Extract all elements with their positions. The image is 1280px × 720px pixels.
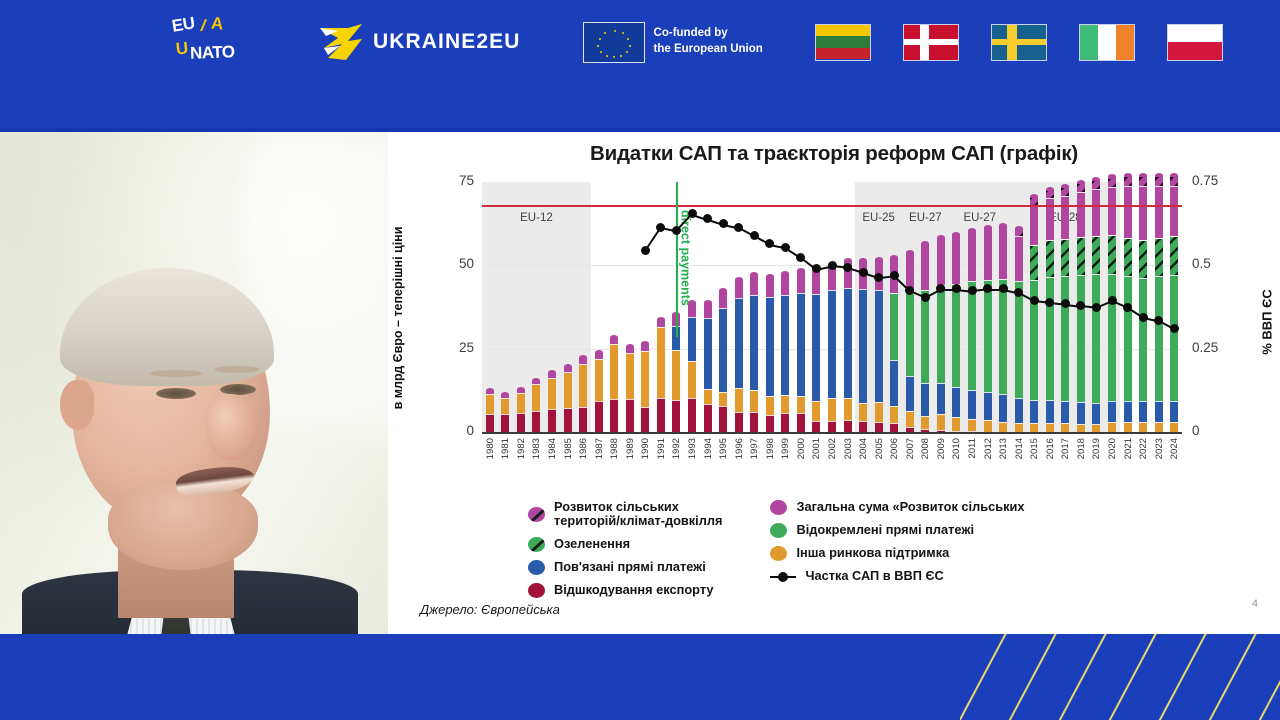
bar-segment <box>952 417 960 430</box>
bar-cap <box>579 355 587 359</box>
bar-cap <box>984 225 992 229</box>
x-tick-label: 1991 <box>656 438 667 459</box>
bar-column <box>626 347 634 432</box>
line-data-point <box>1061 299 1070 308</box>
line-data-point <box>734 223 743 232</box>
bar-segment <box>641 407 649 432</box>
bar-segment <box>610 344 618 398</box>
bar-segment <box>999 394 1007 421</box>
line-data-point <box>781 243 790 252</box>
legend-label: Розвиток сільських територій/клімат-довк… <box>554 500 722 529</box>
reference-line <box>482 205 1182 206</box>
line-data-point <box>688 209 697 218</box>
bar-segment <box>875 402 883 422</box>
bar-column <box>781 275 789 432</box>
bar-segment <box>968 390 976 419</box>
bar-column <box>875 260 883 432</box>
bar-segment <box>875 422 883 432</box>
bar-cap <box>890 255 898 259</box>
cofunded-line-2: the European Union <box>654 42 763 58</box>
bar-segment <box>1092 180 1100 189</box>
bar-segment <box>1077 275 1085 402</box>
bar-segment <box>1139 422 1147 432</box>
window-glare <box>250 132 388 432</box>
bar-segment <box>999 279 1007 394</box>
y-tick-right: 0.5 <box>1192 256 1211 271</box>
bar-segment <box>1030 400 1038 423</box>
period-band-label: EU-27 <box>963 212 996 224</box>
x-tick-label: 1992 <box>671 438 682 459</box>
bar-segment <box>797 396 805 413</box>
x-tick-label: 2015 <box>1029 438 1040 459</box>
bar-segment <box>1170 236 1178 274</box>
bar-segment <box>657 320 665 327</box>
x-tick-label: 2008 <box>920 438 931 459</box>
bar-segment <box>844 398 852 419</box>
bar-segment <box>1061 401 1069 423</box>
y-tick-left: 0 <box>466 423 474 438</box>
bar-segment <box>984 392 992 420</box>
bar-segment <box>1108 274 1116 401</box>
bar-segment <box>781 275 789 296</box>
bar-segment <box>984 228 992 280</box>
bar-segment <box>1046 423 1054 432</box>
bar-segment <box>735 298 743 388</box>
bar-column <box>844 262 852 432</box>
x-tick-label: 1999 <box>780 438 791 459</box>
bar-segment <box>921 290 929 383</box>
axis-baseline <box>482 432 1182 434</box>
bar-cap <box>859 258 867 262</box>
period-band-label: EU-27 <box>909 212 942 224</box>
logo-u: U <box>175 38 189 59</box>
bar-segment <box>1170 422 1178 432</box>
speaker-brow-right <box>214 366 260 373</box>
legend-column-right: Загальна сума «Розвиток сільськихВідокре… <box>770 500 1024 598</box>
x-tick-label: 1987 <box>594 438 605 459</box>
x-tick-label: 1989 <box>625 438 636 459</box>
bar-segment <box>1077 424 1085 432</box>
cofunded-badge: Co-funded by the European Union <box>583 22 763 63</box>
bar-column <box>486 392 494 432</box>
x-tick-label: 2002 <box>827 438 838 459</box>
bar-segment <box>766 415 774 432</box>
bar-column <box>1155 176 1163 432</box>
bar-segment <box>532 384 540 411</box>
bar-segment <box>719 392 727 406</box>
bar-cap <box>921 241 929 245</box>
bar-segment <box>548 378 556 410</box>
bar-segment <box>781 295 789 395</box>
bar-segment <box>1015 281 1023 398</box>
legend-item[interactable]: Відшкодування експорту <box>528 583 722 598</box>
legend-label: Частка САП в ВВП ЄС <box>805 569 943 583</box>
bar-segment <box>1124 238 1132 276</box>
bar-segment <box>1124 422 1132 432</box>
bar-segment <box>1139 186 1147 239</box>
speaker-brow-left <box>150 370 202 377</box>
bar-segment <box>999 422 1007 432</box>
bar-column <box>1170 176 1178 432</box>
bar-segment <box>1015 423 1023 432</box>
legend-swatch <box>770 500 787 515</box>
x-tick-label: 1990 <box>640 438 651 459</box>
bar-segment <box>1030 245 1038 280</box>
legend-item[interactable]: Загальна сума «Розвиток сільських <box>770 500 1024 515</box>
bar-segment <box>1139 401 1147 422</box>
legend-item[interactable]: Відокремлені прямі платежі <box>770 523 1024 538</box>
bar-segment <box>844 288 852 398</box>
bar-column <box>797 271 805 432</box>
bar-segment <box>906 411 914 426</box>
x-tick-label: 1988 <box>609 438 620 459</box>
bar-cap <box>1046 187 1054 191</box>
x-tick-label: 1983 <box>531 438 542 459</box>
bar-segment <box>766 396 774 416</box>
bar-segment <box>1077 402 1085 424</box>
bar-column <box>657 320 665 432</box>
bar-cap <box>517 387 525 391</box>
bar-segment <box>486 414 494 432</box>
bar-cap <box>595 350 603 354</box>
bar-column <box>952 236 960 432</box>
slide-panel: Видатки САП та траєкторія реформ САП (гр… <box>388 132 1280 634</box>
bar-segment <box>781 413 789 432</box>
bar-segment <box>1108 187 1116 235</box>
x-tick-label: 2009 <box>936 438 947 459</box>
x-tick-label: 2003 <box>843 438 854 459</box>
legend-item[interactable]: Озеленення <box>528 537 722 552</box>
bar-segment <box>1077 183 1085 192</box>
x-tick-label: 1998 <box>765 438 776 459</box>
bar-segment <box>1124 276 1132 401</box>
x-tick-label: 1982 <box>516 438 527 459</box>
bar-segment <box>641 344 649 350</box>
bar-segment <box>1046 277 1054 400</box>
bar-column <box>828 265 836 432</box>
bar-segment <box>1077 237 1085 275</box>
bar-cap <box>704 300 712 304</box>
bar-column <box>999 226 1007 432</box>
bar-column <box>812 271 820 432</box>
speaker-video-feed[interactable] <box>0 132 388 634</box>
bar-column <box>766 277 774 432</box>
bar-column <box>564 368 572 432</box>
y-tick-right: 0 <box>1192 423 1200 438</box>
bar-segment <box>812 271 820 294</box>
flag-lithuania <box>815 24 871 61</box>
bar-segment <box>595 401 603 432</box>
flag-denmark <box>903 24 959 61</box>
line-data-point <box>1092 303 1101 312</box>
bar-segment <box>1061 196 1069 239</box>
line-data-point <box>672 226 681 235</box>
bar-segment <box>1061 423 1069 432</box>
bar-segment <box>1092 403 1100 424</box>
period-band-label: EU-25 <box>862 212 895 224</box>
speaker-chin <box>108 484 258 570</box>
bar-segment <box>735 388 743 412</box>
x-tick-label: 2021 <box>1123 438 1134 459</box>
logo-eu-text: EU <box>171 13 196 36</box>
bar-segment <box>1108 401 1116 422</box>
bar-cap <box>501 392 509 396</box>
bar-segment <box>1155 422 1163 432</box>
bar-segment <box>984 280 992 392</box>
legend-item[interactable]: Інша ринкова підтримка <box>770 546 1024 561</box>
bar-segment <box>890 293 898 360</box>
x-axis-labels: 1980198119821983198419851986198719881989… <box>482 438 1182 490</box>
ukraine2eu-label: UKRAINE2EU <box>373 30 521 54</box>
legend-label: Відшкодування експорту <box>554 583 714 597</box>
x-tick-label: 2022 <box>1138 438 1149 459</box>
bar-segment <box>968 281 976 389</box>
y-axis-label-right: % ВВП ЄС <box>1260 289 1275 355</box>
bar-cap <box>610 335 618 339</box>
bar-segment <box>1030 205 1038 245</box>
legend-swatch <box>528 537 545 552</box>
bar-cap <box>750 272 758 276</box>
bar-segment <box>797 271 805 293</box>
x-tick-label: 2016 <box>1045 438 1056 459</box>
bar-segment <box>641 351 649 407</box>
bar-segment <box>1015 398 1023 423</box>
presentation-stage: EU / A U NATO UKRAINE2EU <box>0 0 1280 720</box>
x-tick-label: 1986 <box>578 438 589 459</box>
bar-segment <box>952 387 960 417</box>
bar-cap <box>906 250 914 254</box>
legend-label: Інша ринкова підтримка <box>796 546 949 560</box>
line-data-point <box>1154 316 1163 325</box>
bar-segment <box>657 398 665 432</box>
bar-segment <box>750 295 758 390</box>
bar-segment <box>781 395 789 413</box>
line-data-point <box>656 223 665 232</box>
line-data-point <box>843 263 852 272</box>
x-tick-label: 2020 <box>1107 438 1118 459</box>
x-tick-label: 2006 <box>889 438 900 459</box>
bar-column <box>719 292 727 432</box>
bottom-banner <box>0 634 1280 720</box>
logo-slash: / <box>199 16 207 36</box>
bar-cap <box>1124 173 1132 177</box>
x-tick-label: 2000 <box>796 438 807 459</box>
y-axis-label-left: в млрд Євро – теперішні ціни <box>391 227 405 410</box>
bar-cap <box>1077 180 1085 184</box>
line-data-point <box>796 253 805 262</box>
bar-segment <box>517 413 525 432</box>
y-tick-left: 25 <box>459 340 474 355</box>
bar-segment <box>579 407 587 432</box>
x-tick-label: 2014 <box>1014 438 1025 459</box>
bar-column <box>610 338 618 432</box>
bar-segment <box>1170 275 1178 402</box>
line-data-point <box>719 219 728 228</box>
bar-segment <box>766 277 774 297</box>
bar-segment <box>1170 186 1178 236</box>
bar-segment <box>844 420 852 432</box>
bar-segment <box>1108 178 1116 187</box>
bar-segment <box>890 360 898 407</box>
line-data-point <box>1139 313 1148 322</box>
slide-number: 4 <box>1252 598 1258 610</box>
x-tick-label: 2024 <box>1169 438 1180 459</box>
bar-segment <box>1061 187 1069 195</box>
bar-segment <box>812 421 820 432</box>
bar-segment <box>719 292 727 309</box>
bar-column <box>532 381 540 432</box>
bar-segment <box>952 284 960 387</box>
bar-segment <box>968 419 976 431</box>
bar-segment <box>719 308 727 392</box>
bar-column <box>968 231 976 432</box>
bar-column <box>501 395 509 432</box>
bar-segment <box>937 238 945 285</box>
y-tick-left: 75 <box>459 173 474 188</box>
chart-legend: Розвиток сільських територій/клімат-довк… <box>388 500 1280 598</box>
bar-cap <box>626 344 634 348</box>
bar-segment <box>595 359 603 401</box>
bar-cap <box>1155 173 1163 177</box>
y-tick-right: 0.75 <box>1192 173 1218 188</box>
bar-segment <box>1124 186 1132 238</box>
bar-segment <box>1092 424 1100 432</box>
legend-swatch <box>770 523 787 538</box>
bar-segment <box>704 389 712 405</box>
bar-cap <box>781 271 789 275</box>
line-data-point <box>1170 324 1179 333</box>
eu-flag-icon <box>583 22 645 63</box>
x-tick-label: 2018 <box>1076 438 1087 459</box>
bar-segment <box>906 293 914 376</box>
legend-line-marker <box>770 569 796 584</box>
bar-column <box>704 303 712 432</box>
x-tick-label: 2005 <box>874 438 885 459</box>
bar-segment <box>1124 176 1132 186</box>
bar-segment <box>1155 401 1163 422</box>
bar-segment <box>750 390 758 412</box>
bar-column <box>1108 178 1116 432</box>
bar-segment <box>626 347 634 353</box>
bar-segment <box>984 420 992 432</box>
bar-segment <box>937 414 945 430</box>
bar-cap <box>797 268 805 272</box>
bar-segment <box>828 398 836 420</box>
cofunded-text: Co-funded by the European Union <box>654 26 763 57</box>
bar-segment <box>532 411 540 432</box>
bar-segment <box>937 383 945 414</box>
bar-segment <box>1061 276 1069 401</box>
line-data-point <box>921 293 930 302</box>
bar-segment <box>1155 238 1163 276</box>
bar-cap <box>875 257 883 261</box>
bar-column <box>579 359 587 432</box>
bar-cap <box>548 370 556 374</box>
x-tick-label: 1993 <box>687 438 698 459</box>
bar-column <box>595 354 603 432</box>
bar-column <box>517 391 525 432</box>
bar-column <box>688 304 696 432</box>
bar-segment <box>688 317 696 361</box>
bar-segment <box>921 416 929 429</box>
x-tick-label: 1980 <box>485 438 496 459</box>
bar-segment <box>828 421 836 432</box>
cofunded-line-1: Co-funded by <box>654 26 763 42</box>
bar-column <box>921 245 929 432</box>
bar-segment <box>1139 176 1147 186</box>
bar-cap <box>766 274 774 278</box>
bar-segment <box>1108 235 1116 274</box>
bar-segment <box>1092 236 1100 275</box>
bar-segment <box>1092 189 1100 236</box>
bar-column <box>1139 176 1147 432</box>
bar-cap <box>1092 177 1100 181</box>
bar-segment <box>859 421 867 432</box>
x-tick-label: 1994 <box>703 438 714 459</box>
x-tick-label: 1984 <box>547 438 558 459</box>
page-title: Видатки САП та траєкторія реформ САП (гр… <box>388 142 1280 166</box>
bar-segment <box>999 226 1007 279</box>
legend-label: Загальна сума «Розвиток сільських <box>796 500 1024 514</box>
bar-cap <box>735 277 743 281</box>
legend-item[interactable]: Пов'язані прямі платежі <box>528 560 722 575</box>
plot-canvas: EU-12EU-25EU-27EU-27EU-28direct payments <box>482 182 1182 432</box>
bar-cap <box>532 378 540 382</box>
line-data-point <box>1108 296 1117 305</box>
bar-segment <box>952 236 960 284</box>
bar-segment <box>564 408 572 432</box>
bar-segment <box>859 403 867 421</box>
bar-segment <box>1046 190 1054 198</box>
x-tick-label: 2017 <box>1060 438 1071 459</box>
bar-cap <box>1030 194 1038 198</box>
bar-segment <box>968 231 976 281</box>
bar-segment <box>750 412 758 432</box>
legend-swatch <box>528 583 545 598</box>
bar-segment <box>501 398 509 415</box>
bar-column <box>906 253 914 432</box>
bar-cap <box>641 341 649 345</box>
bar-segment <box>890 423 898 432</box>
bar-segment <box>1124 401 1132 422</box>
bar-segment <box>735 280 743 298</box>
bar-cap <box>657 317 665 321</box>
bar-cap <box>968 228 976 232</box>
bar-cap <box>1139 173 1147 177</box>
line-data-point <box>828 261 837 270</box>
legend-column-left: Розвиток сільських територій/клімат-довк… <box>528 500 722 598</box>
x-tick-label: 1996 <box>734 438 745 459</box>
x-tick-label: 1985 <box>563 438 574 459</box>
line-data-point <box>859 268 868 277</box>
bar-column <box>750 276 758 432</box>
bar-column <box>859 261 867 432</box>
bar-cap <box>564 364 572 368</box>
legend-item[interactable]: Частка САП в ВВП ЄС <box>770 569 1024 584</box>
x-tick-label: 2010 <box>951 438 962 459</box>
bar-segment <box>672 350 680 400</box>
logo-nato-text: NATO <box>190 42 235 64</box>
bar-segment <box>797 413 805 432</box>
legend-item[interactable]: Розвиток сільських територій/клімат-довк… <box>528 500 722 529</box>
x-tick-label: 2019 <box>1091 438 1102 459</box>
bar-segment <box>564 372 572 408</box>
bar-segment <box>1077 192 1085 237</box>
line-data-point <box>874 273 883 282</box>
legend-label: Пов'язані прямі платежі <box>554 560 706 574</box>
bar-segment <box>812 401 820 421</box>
bar-segment <box>797 293 805 396</box>
